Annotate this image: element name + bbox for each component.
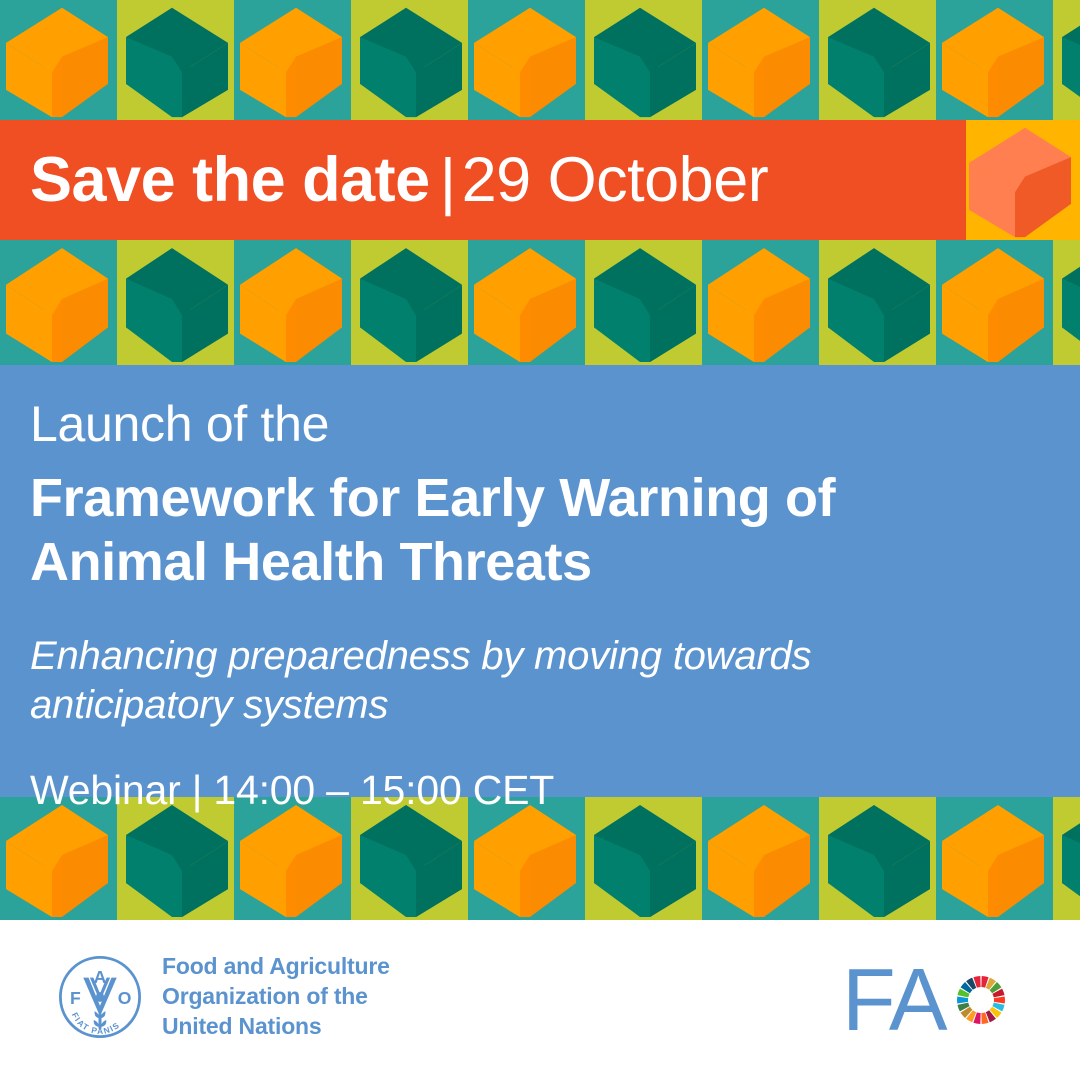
fao-emblem-group: A F O FIAT PANIS Food and Agriculture Or…: [56, 952, 390, 1042]
svg-text:F: F: [70, 988, 81, 1008]
svg-text:FA: FA: [842, 956, 948, 1048]
event-time: Webinar | 14:00 – 15:00 CET: [30, 770, 1040, 811]
fao-logotype-group: FA: [842, 956, 1032, 1048]
event-date: 29 October: [462, 145, 769, 215]
pattern-svg-top: [0, 0, 1080, 120]
fao-wordmark: Food and Agriculture Organization of the…: [162, 952, 390, 1042]
pattern-band-top: [0, 0, 1080, 120]
banner-separator: |: [430, 147, 462, 217]
pattern-svg-middle: [0, 240, 1080, 365]
event-kicker: Launch of the: [30, 397, 1040, 451]
sdg-wheel-icon: [957, 976, 1005, 1024]
pattern-svg-bottom: [0, 797, 1080, 920]
event-details-panel: Launch of the Framework for Early Warnin…: [0, 365, 1080, 797]
fao-emblem-icon: A F O FIAT PANIS: [56, 953, 144, 1041]
event-subtitle: Enhancing preparedness by moving towards…: [30, 632, 990, 730]
poster-canvas: Save the date|29 October Launch of the F…: [0, 0, 1080, 1080]
pattern-band-bottom: [0, 797, 1080, 920]
save-the-date-text: Save the date|29 October: [0, 149, 768, 212]
svg-text:A: A: [94, 967, 107, 987]
save-the-date-label: Save the date: [30, 145, 430, 215]
event-title: Framework for Early Warning of Animal He…: [30, 467, 960, 594]
footer: A F O FIAT PANIS Food and Agriculture Or…: [0, 920, 1080, 1080]
fao-logotype-icon: FA: [842, 956, 1032, 1048]
pattern-band-middle: [0, 240, 1080, 365]
svg-text:O: O: [118, 988, 132, 1008]
save-the-date-banner: Save the date|29 October: [0, 120, 966, 240]
